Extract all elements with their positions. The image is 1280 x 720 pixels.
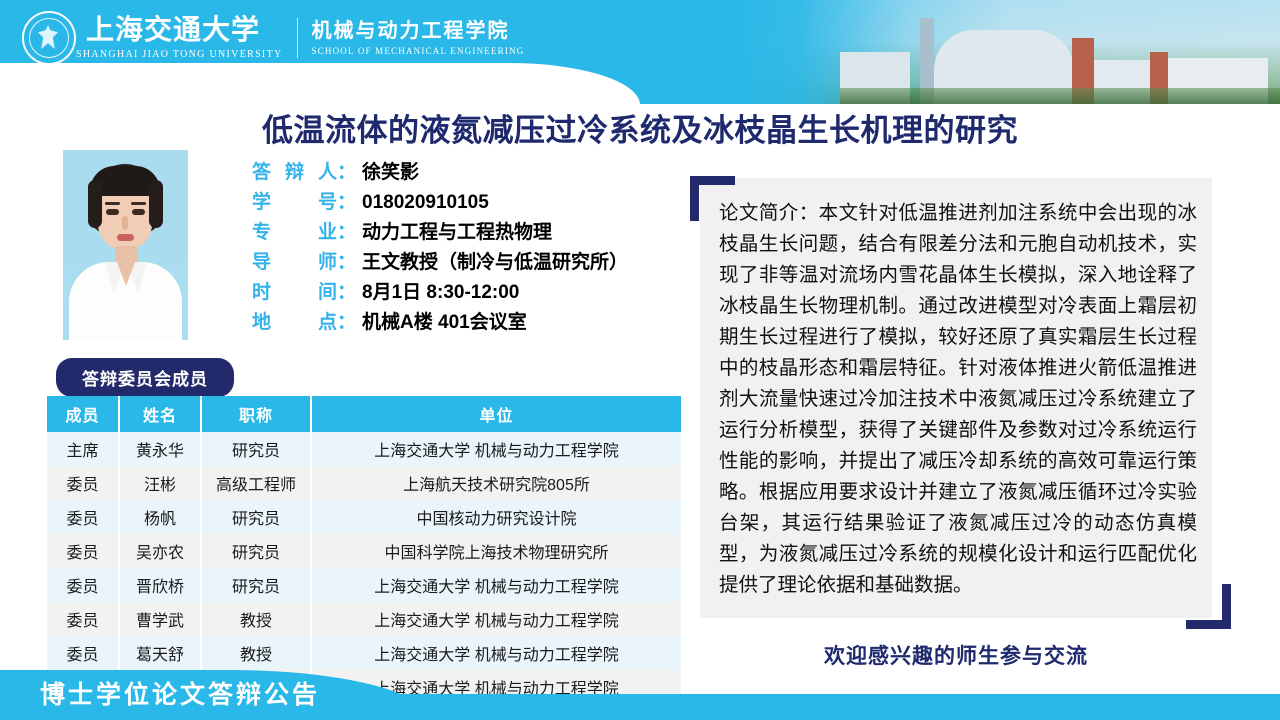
table-cell: 委员: [47, 534, 119, 568]
info-colon: ：: [337, 157, 356, 184]
info-colon: ：: [337, 217, 356, 244]
campus-banner-photo: [720, 0, 1280, 104]
sjtu-logo: 上海交通大学 SHANGHAI JIAO TONG UNIVERSITY 机械与…: [22, 12, 524, 64]
info-value: 动力工程与工程热物理: [362, 217, 552, 244]
photo-hair-left: [88, 180, 102, 228]
table-cell: 研究员: [201, 500, 311, 534]
table-cell: 委员: [47, 568, 119, 602]
committee-table: 成员姓名职称单位 主席黄永华研究员上海交通大学 机械与动力工程学院委员汪彬高级工…: [47, 396, 681, 704]
table-cell: 中国科学院上海技术物理研究所: [311, 534, 681, 568]
committee-table-body: 主席黄永华研究员上海交通大学 机械与动力工程学院委员汪彬高级工程师上海航天技术研…: [47, 432, 681, 704]
table-cell: 上海交通大学 机械与动力工程学院: [311, 636, 681, 670]
abstract-text: 论文简介：本文针对低温推进剂加注系统中会出现的冰枝晶生长问题，结合有限差分法和元…: [719, 198, 1197, 601]
column-header: 成员: [47, 396, 119, 432]
table-row: 委员吴亦农研究员中国科学院上海技术物理研究所: [47, 534, 681, 568]
table-header-row: 成员姓名职称单位: [47, 396, 681, 432]
table-cell: 研究员: [201, 568, 311, 602]
table-cell: 曹学武: [119, 602, 201, 636]
table-cell: 研究员: [201, 534, 311, 568]
info-row: 地点：机械A楼 401会议室: [252, 307, 682, 337]
table-cell: 中国核动力研究设计院: [311, 500, 681, 534]
column-header: 职称: [201, 396, 311, 432]
table-cell: 主席: [47, 432, 119, 466]
page-header: 上海交通大学 SHANGHAI JIAO TONG UNIVERSITY 机械与…: [0, 0, 1280, 104]
defense-info-list: 答辩人：徐笑影学号：018020910105专业：动力工程与工程热物理导师：王文…: [252, 157, 682, 337]
info-colon: ：: [337, 277, 356, 304]
table-cell: 上海交通大学 机械与动力工程学院: [311, 432, 681, 466]
page-footer: 博士学位论文答辩公告: [0, 670, 1280, 720]
info-row: 答辩人：徐笑影: [252, 157, 682, 187]
table-cell: 委员: [47, 602, 119, 636]
info-label: 专业: [252, 217, 337, 244]
table-cell: 研究员: [201, 432, 311, 466]
photo-brow-left: [105, 202, 120, 205]
info-value: 徐笑影: [362, 157, 419, 184]
table-row: 主席黄永华研究员上海交通大学 机械与动力工程学院: [47, 432, 681, 466]
table-row: 委员晋欣桥研究员上海交通大学 机械与动力工程学院: [47, 568, 681, 602]
table-cell: 黄永华: [119, 432, 201, 466]
info-value: 8月1日 8:30-12:00: [362, 277, 519, 304]
table-cell: 委员: [47, 466, 119, 500]
table-cell: 教授: [201, 602, 311, 636]
committee-badge: 答辩委员会成员: [56, 358, 234, 397]
info-label: 答辩人: [252, 157, 337, 184]
column-header: 姓名: [119, 396, 201, 432]
table-cell: 上海航天技术研究院805所: [311, 466, 681, 500]
info-label: 地点: [252, 307, 337, 334]
info-colon: ：: [337, 187, 356, 214]
info-row: 导师：王文教授（制冷与低温研究所）: [252, 247, 682, 277]
page-title: 低温流体的液氮减压过冷系统及冰枝晶生长机理的研究: [0, 105, 1280, 150]
table-row: 委员汪彬高级工程师上海航天技术研究院805所: [47, 466, 681, 500]
info-label: 导师: [252, 247, 337, 274]
header-curve-divider: [0, 63, 640, 104]
photo-eye-left: [106, 209, 119, 215]
table-cell: 晋欣桥: [119, 568, 201, 602]
photo-eye-right: [132, 209, 145, 215]
table-cell: 上海交通大学 机械与动力工程学院: [311, 602, 681, 636]
university-name-en: SHANGHAI JIAO TONG UNIVERSITY: [76, 50, 283, 60]
table-cell: 杨帆: [119, 500, 201, 534]
table-cell: 汪彬: [119, 466, 201, 500]
column-header: 单位: [311, 396, 681, 432]
school-name-cn: 机械与动力工程学院: [312, 21, 525, 41]
school-name-block: 机械与动力工程学院 SCHOOL OF MECHANICAL ENGINEERI…: [312, 21, 525, 56]
photo-hair-right: [149, 180, 163, 228]
table-cell: 委员: [47, 636, 119, 670]
footer-title: 博士学位论文答辩公告: [40, 675, 320, 711]
info-value: 018020910105: [362, 192, 489, 214]
university-name-block: 上海交通大学 SHANGHAI JIAO TONG UNIVERSITY: [76, 17, 283, 60]
info-value: 机械A楼 401会议室: [362, 307, 527, 334]
photo-mouth: [117, 234, 134, 241]
info-colon: ：: [337, 247, 356, 274]
info-row: 学号：018020910105: [252, 187, 682, 217]
info-row: 专业：动力工程与工程热物理: [252, 217, 682, 247]
photo-nose: [122, 216, 128, 230]
table-row: 委员杨帆研究员中国核动力研究设计院: [47, 500, 681, 534]
info-colon: ：: [337, 307, 356, 334]
info-label: 时间: [252, 277, 337, 304]
table-cell: 教授: [201, 636, 311, 670]
info-value: 王文教授（制冷与低温研究所）: [362, 247, 628, 274]
table-row: 委员葛天舒教授上海交通大学 机械与动力工程学院: [47, 636, 681, 670]
committee-table-head: 成员姓名职称单位: [47, 396, 681, 432]
university-name-cn: 上海交通大学: [86, 17, 283, 45]
info-row: 时间：8月1日 8:30-12:00: [252, 277, 682, 307]
welcome-message: 欢迎感兴趣的师生参与交流: [700, 640, 1212, 670]
info-label: 学号: [252, 187, 337, 214]
logo-divider: [297, 18, 298, 58]
tree-line: [840, 88, 1280, 104]
school-name-en: SCHOOL OF MECHANICAL ENGINEERING: [312, 47, 525, 56]
table-cell: 委员: [47, 500, 119, 534]
candidate-photo: [63, 150, 188, 340]
table-cell: 吴亦农: [119, 534, 201, 568]
table-cell: 上海交通大学 机械与动力工程学院: [311, 568, 681, 602]
table-row: 委员曹学武教授上海交通大学 机械与动力工程学院: [47, 602, 681, 636]
sjtu-seal-icon: [22, 11, 76, 65]
table-cell: 葛天舒: [119, 636, 201, 670]
photo-brow-right: [131, 202, 146, 205]
table-cell: 高级工程师: [201, 466, 311, 500]
